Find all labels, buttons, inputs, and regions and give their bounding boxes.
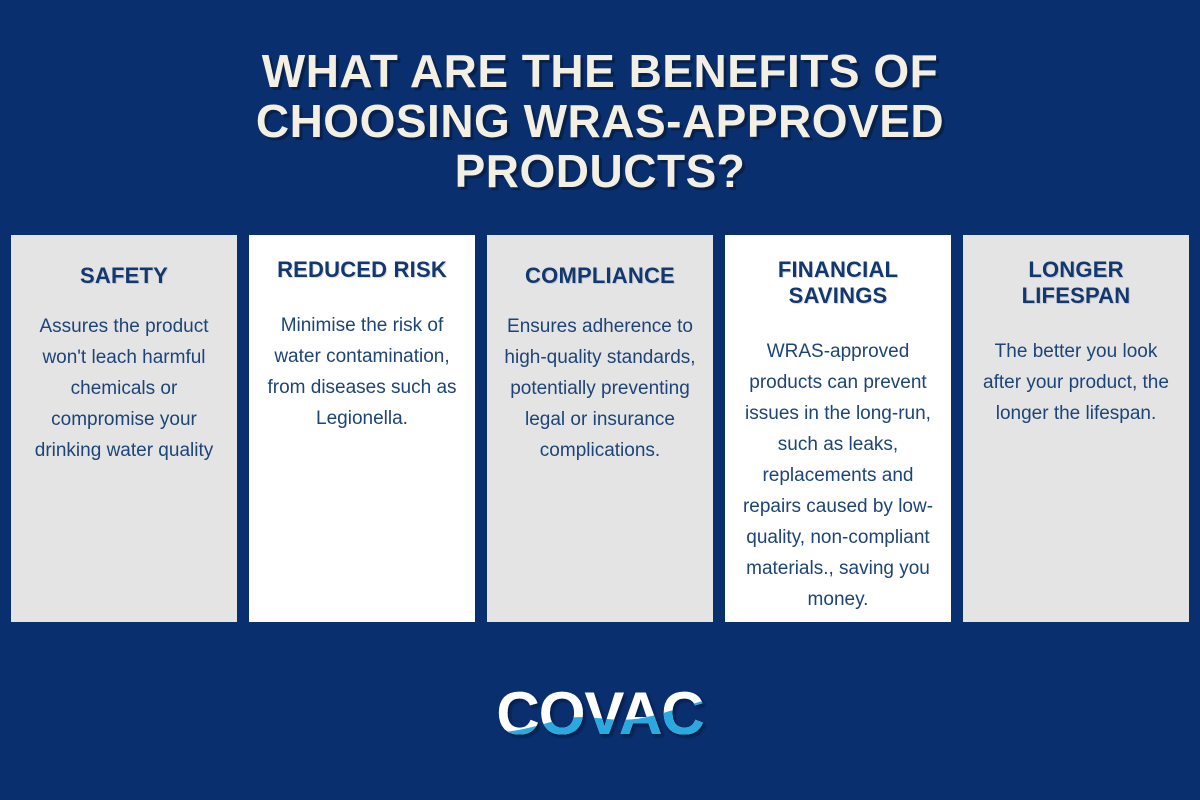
benefit-card-body: Minimise the risk of water contamination…	[261, 310, 463, 434]
benefit-card-heading: FINANCIAL SAVINGS	[737, 257, 939, 309]
covac-logo-wordmark: COVAC COVAC	[470, 678, 730, 752]
benefit-card-body: WRAS-approved products can prevent issue…	[737, 336, 939, 615]
benefit-card-heading: LONGER LIFESPAN	[975, 257, 1177, 309]
benefit-card-body: Ensures adherence to high-quality standa…	[499, 311, 701, 466]
covac-logo: COVAC COVAC	[0, 672, 1200, 758]
benefit-card-heading: SAFETY	[80, 263, 168, 289]
benefit-cards-row: SAFETY Assures the product won't leach h…	[11, 235, 1189, 622]
page-title-line-1: WHAT ARE THE BENEFITS OF	[0, 46, 1200, 96]
page-title-line-3: PRODUCTS?	[0, 146, 1200, 196]
benefit-card-reduced-risk: REDUCED RISK Minimise the risk of water …	[249, 235, 475, 622]
page-title: WHAT ARE THE BENEFITS OF CHOOSING WRAS-A…	[0, 46, 1200, 196]
benefit-card-longer-lifespan: LONGER LIFESPAN The better you look afte…	[963, 235, 1189, 622]
benefit-card-body: The better you look after your product, …	[975, 336, 1177, 429]
page-title-line-2: CHOOSING WRAS-APPROVED	[0, 96, 1200, 146]
benefit-card-heading: COMPLIANCE	[525, 263, 675, 289]
benefit-card-heading: REDUCED RISK	[277, 257, 447, 283]
benefit-card-financial-savings: FINANCIAL SAVINGS WRAS-approved products…	[725, 235, 951, 622]
benefit-card-safety: SAFETY Assures the product won't leach h…	[11, 235, 237, 622]
benefit-card-compliance: COMPLIANCE Ensures adherence to high-qua…	[487, 235, 713, 622]
benefit-card-body: Assures the product won't leach harmful …	[23, 311, 225, 466]
